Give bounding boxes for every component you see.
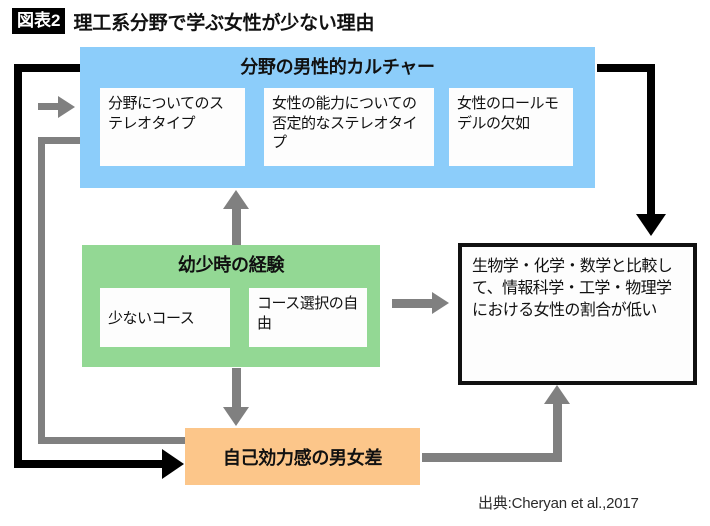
self-efficacy-gap-label: 自己効力感の男女差: [223, 444, 382, 470]
male-culture-group: 分野の男性的カルチャー 分野についてのステレオタイプ 女性の能力についての否定的…: [80, 47, 595, 188]
outcome-box: 生物学・化学・数学と比較して、情報科学・工学・物理学における女性の割合が低い: [458, 243, 697, 385]
figure-title-text: 理工系分野で学ぶ女性が少ない理由: [73, 8, 374, 35]
orange-to-outcome-horizontal-segment: [422, 453, 562, 462]
blue-to-outcome-arrowhead: [636, 214, 666, 236]
green-to-outcome-shaft: [392, 299, 434, 308]
male-culture-group-title: 分野の男性的カルチャー: [80, 47, 595, 79]
figure-number-badge: 図表2: [12, 8, 65, 34]
black-loop-arrowhead: [162, 449, 184, 479]
male-culture-item-role-model-lack: 女性のロールモデルの欠如: [449, 88, 573, 166]
male-culture-item-stereotype-field: 分野についてのステレオタイプ: [100, 88, 245, 166]
gray-loop-into-blue-segment: [38, 103, 62, 110]
childhood-item-course-choice-freedom: コース選択の自由: [249, 288, 367, 347]
orange-to-outcome-arrowhead: [544, 385, 570, 404]
gray-loop-left-segment: [38, 137, 45, 444]
green-to-blue-arrowhead: [223, 190, 249, 209]
black-loop-bottom-segment: [14, 460, 166, 468]
diagram-canvas: 図表2 理工系分野で学ぶ女性が少ない理由 分野の男性的カルチャー 分野についての…: [0, 0, 710, 526]
green-to-orange-arrowhead: [223, 407, 249, 426]
gray-loop-top-segment: [38, 137, 80, 144]
male-culture-item-negative-stereotype: 女性の能力についての否定的なステレオタイプ: [264, 88, 434, 166]
self-efficacy-gap-group: 自己効力感の男女差: [185, 428, 420, 485]
green-to-orange-shaft: [232, 368, 241, 410]
orange-to-outcome-vertical-segment: [553, 402, 562, 462]
black-loop-left-segment: [14, 64, 22, 468]
childhood-experience-group-title: 幼少時の経験: [82, 245, 380, 277]
black-loop-top-segment: [14, 64, 86, 72]
source-citation: 出典:Cheryan et al.,2017: [478, 492, 639, 513]
blue-to-outcome-vertical-segment: [647, 64, 655, 216]
page-title: 図表2 理工系分野で学ぶ女性が少ない理由: [12, 8, 374, 34]
childhood-experience-group: 幼少時の経験 少ないコース コース選択の自由: [82, 245, 380, 367]
childhood-item-few-courses: 少ないコース: [100, 288, 230, 347]
green-to-outcome-arrowhead: [432, 292, 449, 314]
gray-loop-bottom-segment: [38, 437, 190, 444]
